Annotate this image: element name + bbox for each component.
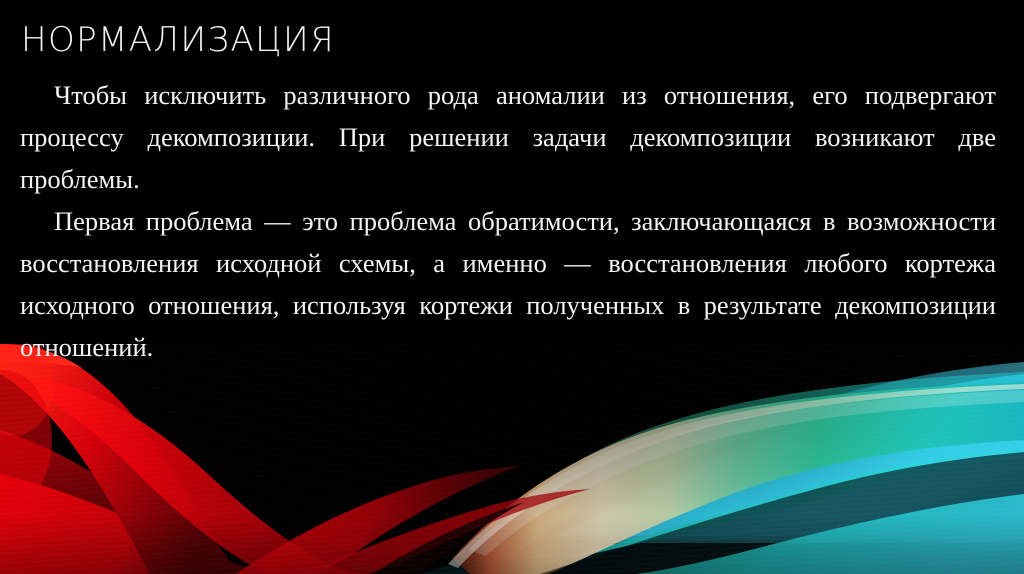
slide-title: НОРМАЛИЗАЦИЯ [21,20,335,60]
body-paragraph-2: Первая проблема — это проблема обратимос… [20,200,996,368]
slide-content: НОРМАЛИЗАЦИЯ Чтобы исключить различного … [0,0,1024,380]
slide-body: Чтобы исключить различного рода аномалии… [20,74,996,368]
presentation-slide: НОРМАЛИЗАЦИЯ Чтобы исключить различного … [0,0,1024,574]
body-paragraph-1: Чтобы исключить различного рода аномалии… [20,74,996,200]
